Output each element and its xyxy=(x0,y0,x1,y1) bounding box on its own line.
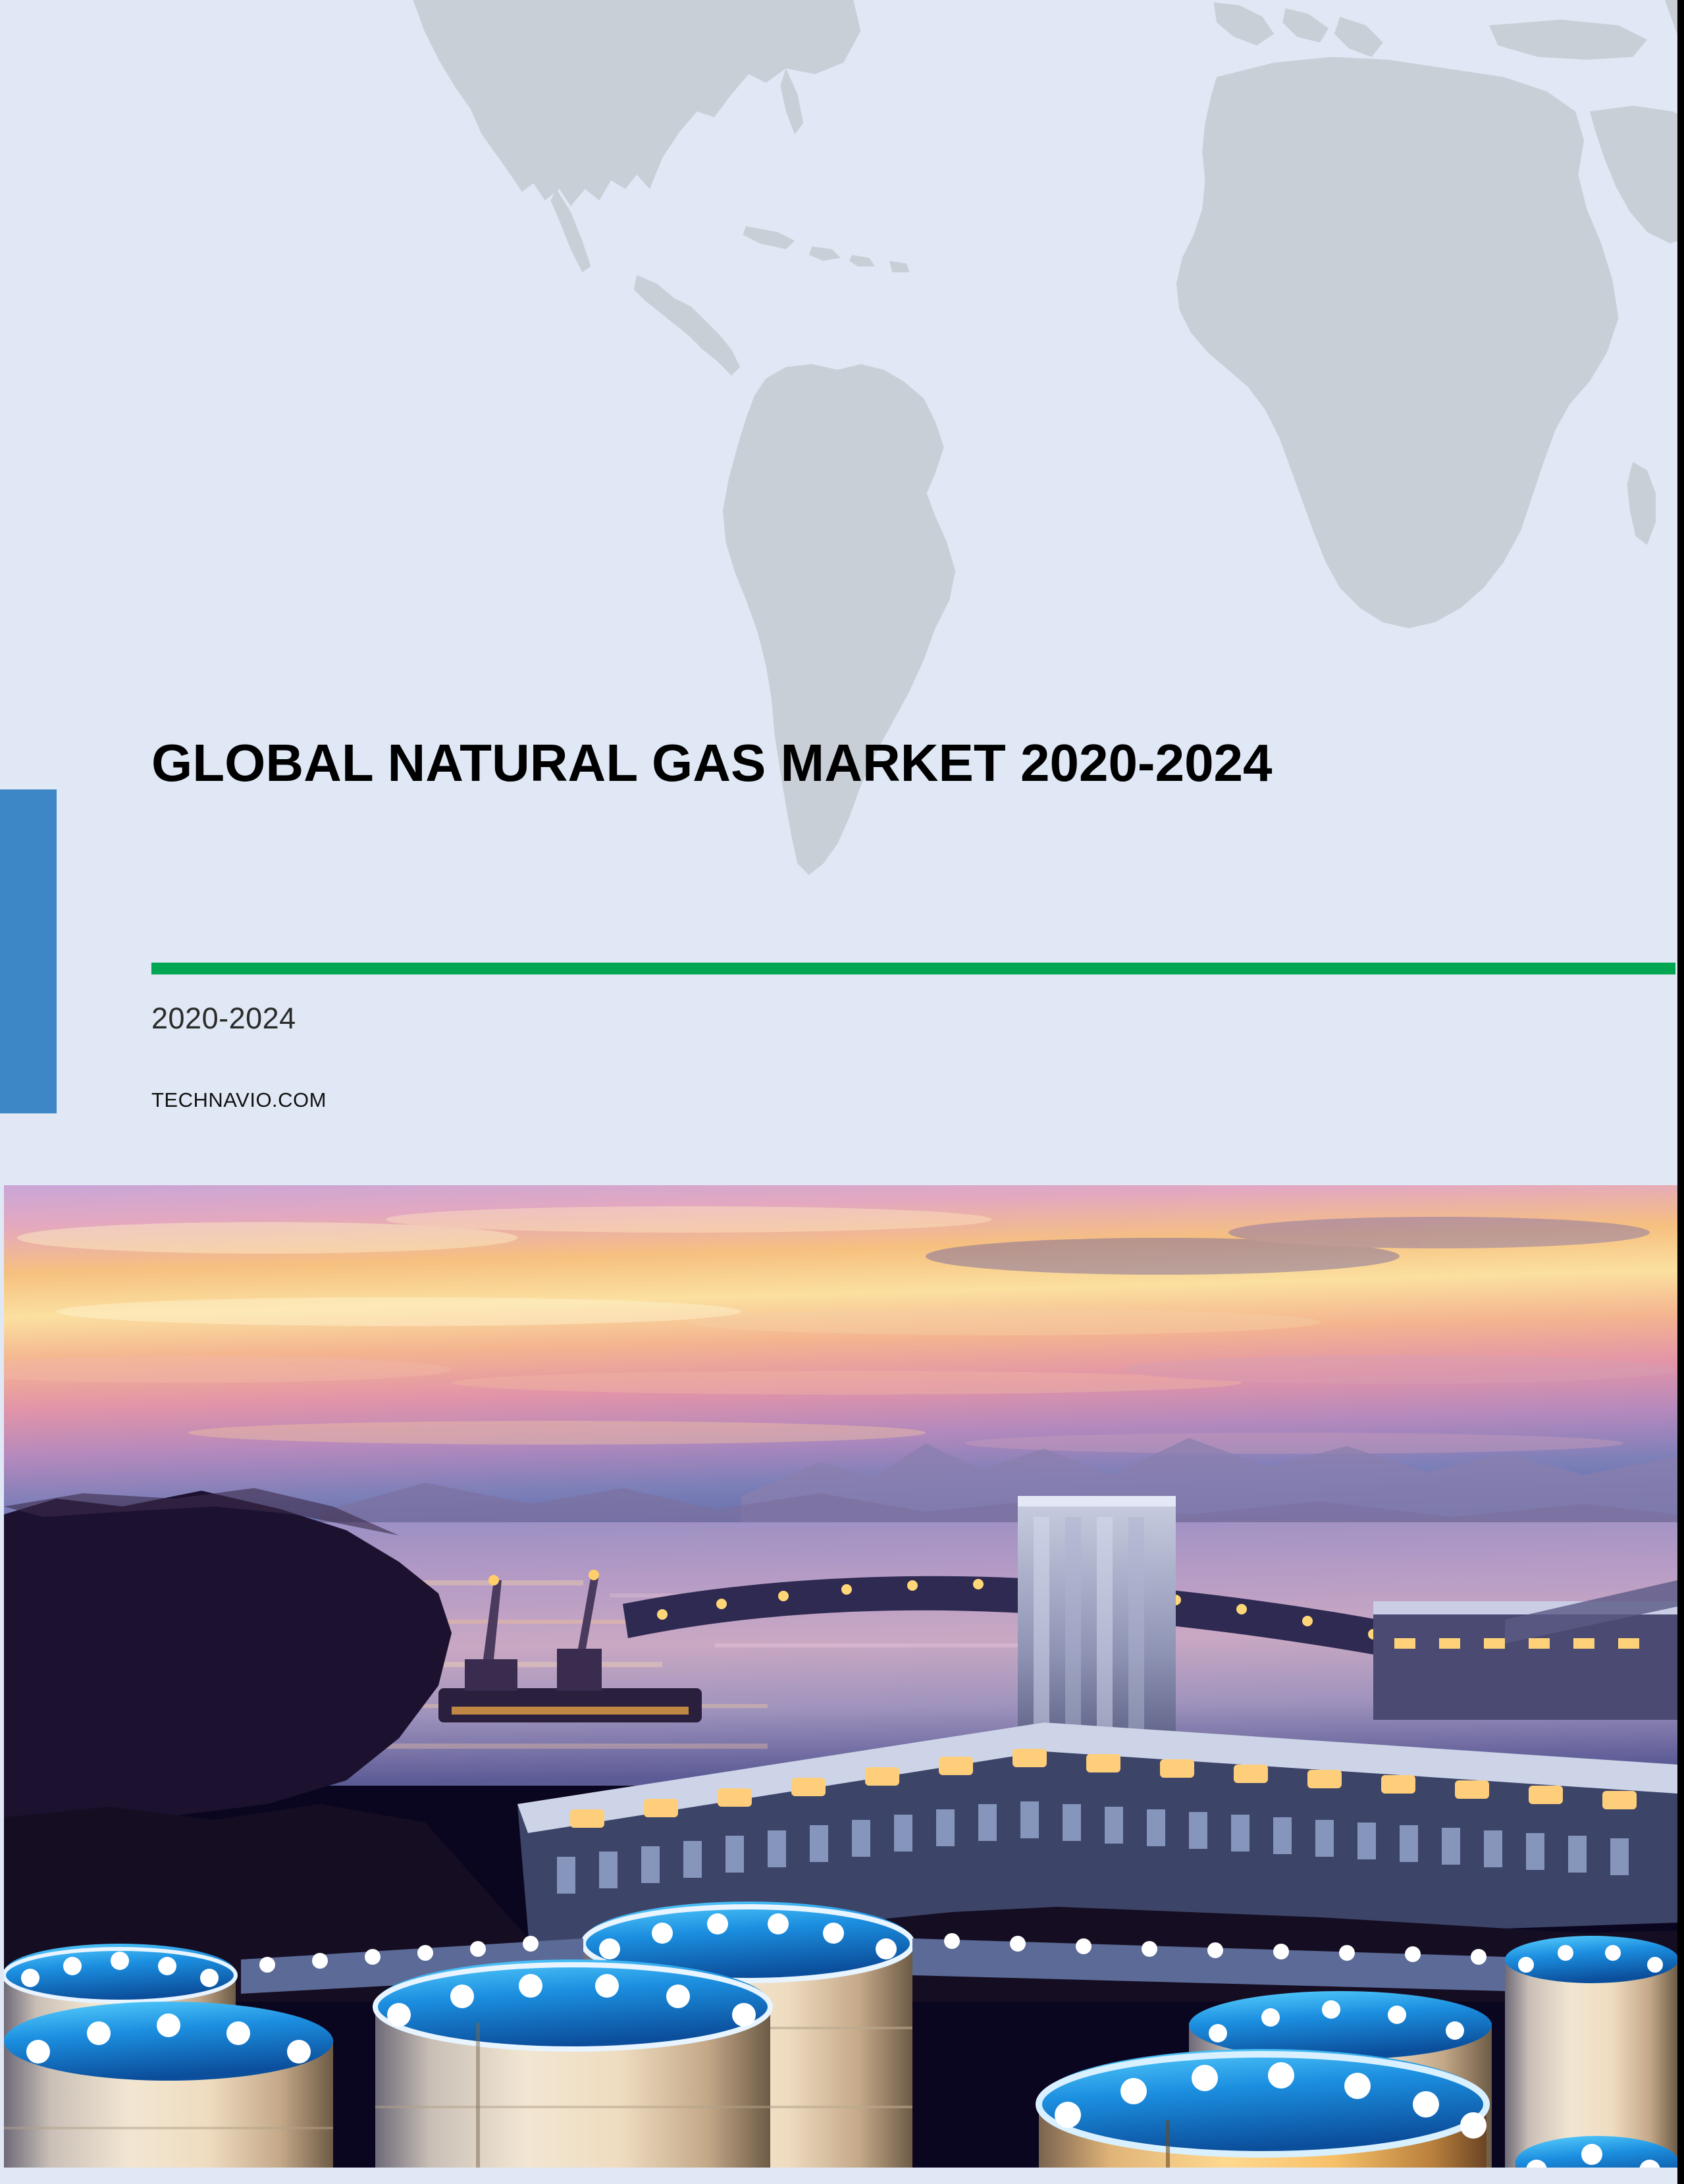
tank-foreground-left xyxy=(4,2002,333,2168)
title-block: GLOBAL NATURAL GAS MARKET 2020-2024 xyxy=(151,731,1679,795)
accent-bar xyxy=(0,789,57,1113)
tank-foreground-center xyxy=(375,1959,770,2168)
page-border-right xyxy=(1677,0,1684,2184)
cover-photo xyxy=(4,1185,1677,2168)
tank-foreground-right xyxy=(1039,2049,1487,2168)
cover-photo-illustration xyxy=(4,1185,1677,2168)
brand-label: TECHNAVIO.COM xyxy=(151,1088,327,1112)
report-period-subtitle: 2020-2024 xyxy=(151,1001,296,1036)
page-bottom-band xyxy=(0,2168,1677,2184)
page-title: GLOBAL NATURAL GAS MARKET 2020-2024 xyxy=(151,731,1534,795)
report-cover-page: GLOBAL NATURAL GAS MARKET 2020-2024 2020… xyxy=(0,0,1684,2184)
tank-back-right xyxy=(1505,1936,1677,2168)
green-divider-rule xyxy=(151,963,1675,974)
